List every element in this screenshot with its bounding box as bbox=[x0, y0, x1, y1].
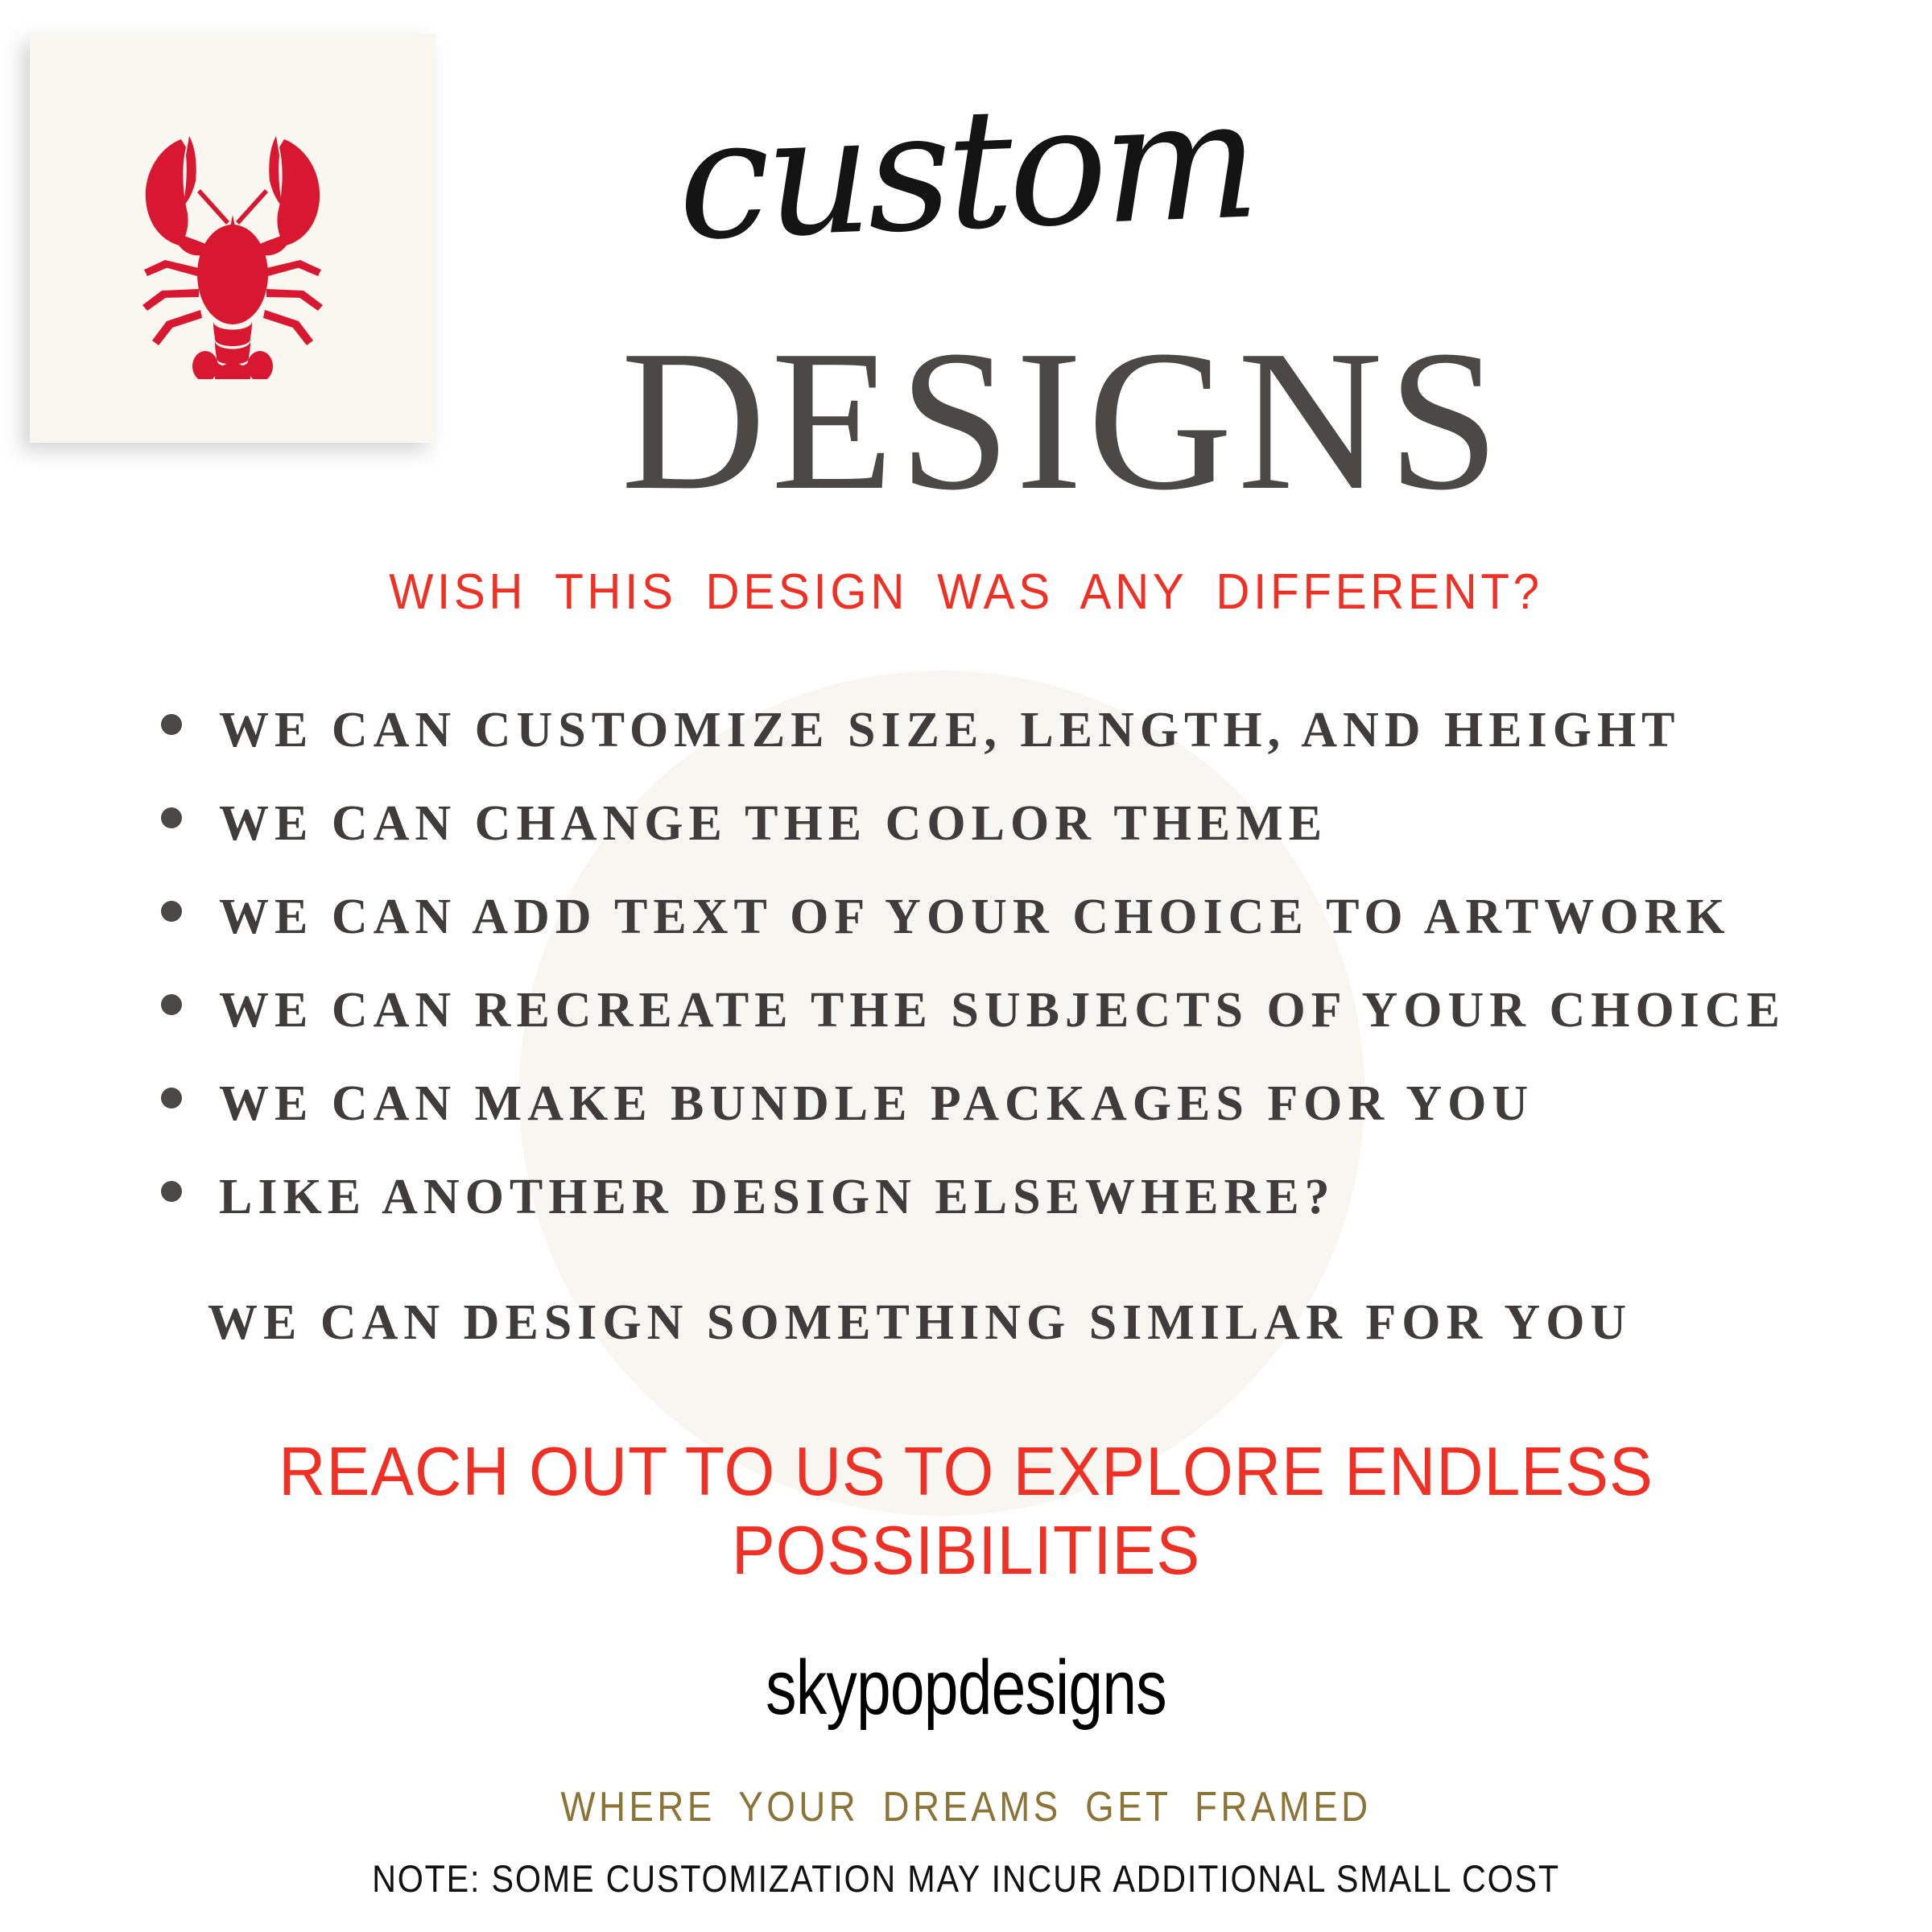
benefit-text: WE CAN CUSTOMIZE SIZE, LENGTH, AND HEIGH… bbox=[219, 702, 1681, 759]
benefit-text: WE CAN MAKE BUNDLE PACKAGES FOR YOU bbox=[219, 1075, 1534, 1133]
list-item: WE CAN CUSTOMIZE SIZE, LENGTH, AND HEIGH… bbox=[161, 702, 1819, 795]
call-to-action-text: REACH OUT TO US TO EXPLORE ENDLESS POSSI… bbox=[48, 1433, 1884, 1591]
brand-tagline: WHERE YOUR DREAMS GET FRAMED bbox=[116, 1783, 1816, 1831]
list-item: WE CAN RECREATE THE SUBJECTS OF YOUR CHO… bbox=[161, 982, 1819, 1075]
custom-designs-promo-graphic: custom DESIGNS WISH THIS DESIGN WAS ANY … bbox=[0, 0, 1932, 1932]
bullet-dot-icon bbox=[161, 807, 182, 828]
benefit-text: LIKE ANOTHER DESIGN ELSEWHERE? bbox=[219, 1169, 1335, 1226]
question-tagline: WISH THIS DESIGN WAS ANY DIFFERENT? bbox=[58, 563, 1874, 621]
list-item: WE CAN ADD TEXT OF YOUR CHOICE TO ARTWOR… bbox=[161, 889, 1819, 982]
benefit-text: WE CAN CHANGE THE COLOR THEME bbox=[219, 795, 1327, 852]
lobster-icon bbox=[112, 97, 353, 379]
list-item: WE CAN MAKE BUNDLE PACKAGES FOR YOU bbox=[161, 1075, 1819, 1169]
list-item: LIKE ANOTHER DESIGN ELSEWHERE? bbox=[161, 1169, 1819, 1262]
bullet-dot-icon bbox=[161, 714, 182, 735]
artwork-preview-card bbox=[30, 34, 436, 443]
brand-logo-text: skypopdesigns bbox=[193, 1644, 1739, 1732]
footer-note: NOTE: SOME CUSTOMIZATION MAY INCUR ADDIT… bbox=[116, 1856, 1816, 1901]
bullet-dot-icon bbox=[161, 994, 182, 1015]
benefit-text: WE CAN RECREATE THE SUBJECTS OF YOUR CHO… bbox=[219, 982, 1785, 1039]
benefit-text: WE CAN ADD TEXT OF YOUR CHOICE TO ARTWOR… bbox=[219, 889, 1731, 946]
bullet-dot-icon bbox=[161, 1088, 182, 1108]
list-item: WE CAN CHANGE THE COLOR THEME bbox=[161, 795, 1819, 889]
bullet-dot-icon bbox=[161, 901, 182, 922]
benefits-list: WE CAN CUSTOMIZE SIZE, LENGTH, AND HEIGH… bbox=[161, 702, 1819, 1262]
bullet-dot-icon bbox=[161, 1181, 182, 1202]
benefit-continuation-text: WE CAN DESIGN SOMETHING SIMILAR FOR YOU bbox=[208, 1294, 1632, 1352]
